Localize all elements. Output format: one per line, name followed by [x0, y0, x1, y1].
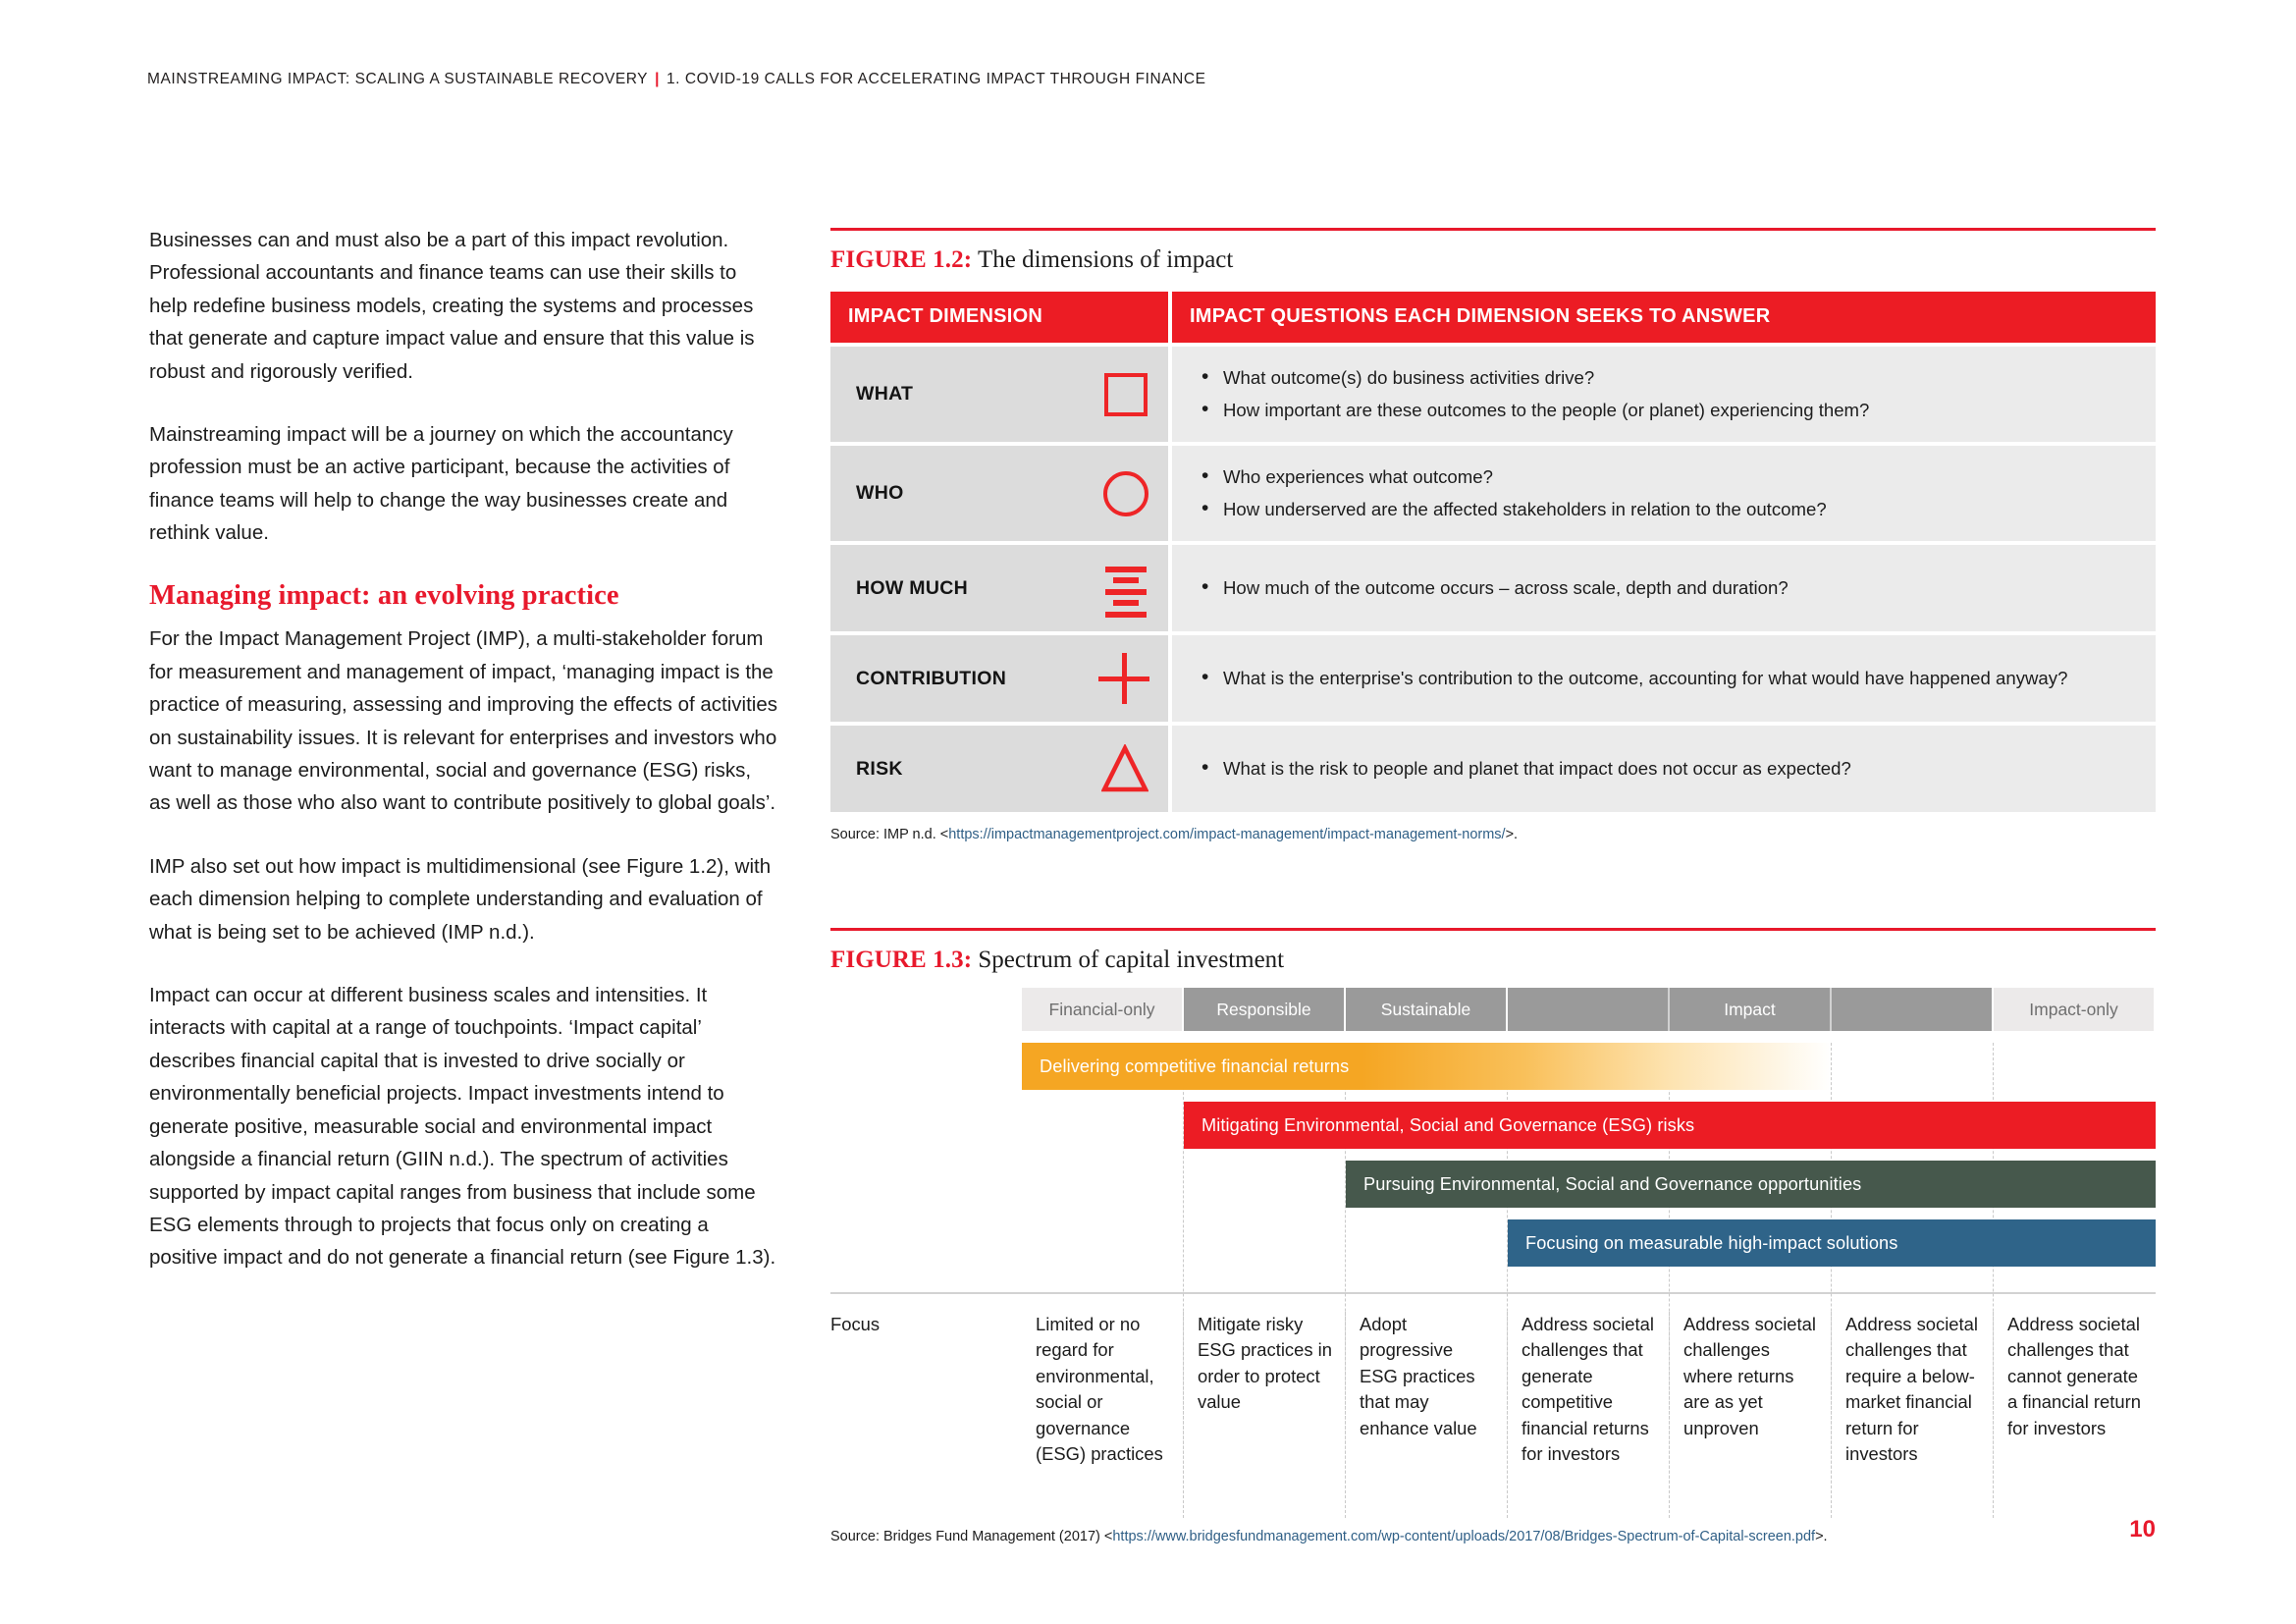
- table-row: CONTRIBUTION What is the enterprise's co…: [830, 635, 2156, 722]
- spectrum-header-blank-1: [1508, 988, 1670, 1031]
- left-text-column: Businesses can and must also be a part o…: [149, 224, 777, 1305]
- source-prefix: Source: Bridges Fund Management (2017) <: [830, 1529, 1112, 1544]
- source-prefix: Source: IMP n.d. <: [830, 827, 948, 842]
- question-item: What outcome(s) do business activities d…: [1198, 363, 2132, 393]
- spectrum-bar-row: Pursuing Environmental, Social and Gover…: [830, 1161, 2156, 1208]
- plus-icon: [1094, 648, 1154, 709]
- dimension-cell-contribution: CONTRIBUTION: [830, 635, 1172, 722]
- dimension-label: WHAT: [856, 383, 913, 406]
- question-item: Who experiences what outcome?: [1198, 462, 2132, 492]
- section-heading: Managing impact: an evolving practice: [149, 580, 777, 613]
- focus-row: Focus Limited or no regard for environme…: [830, 1312, 2156, 1518]
- questions-cell-who: Who experiences what outcome? How unders…: [1172, 446, 2156, 541]
- focus-cell-responsible: Mitigate risky ESG practices in order to…: [1184, 1312, 1346, 1518]
- source-url[interactable]: https://impactmanagementproject.com/impa…: [948, 827, 1505, 842]
- table-row: WHO Who experiences what outcome? How un…: [830, 446, 2156, 541]
- spectrum-bar-label: Focusing on measurable high-impact solut…: [1508, 1233, 1897, 1254]
- dimension-cell-how-much: HOW MUCH: [830, 545, 1172, 631]
- paragraph-2: Mainstreaming impact will be a journey o…: [149, 418, 777, 550]
- spectrum-bar-label: Delivering competitive financial returns: [1022, 1056, 1349, 1077]
- question-item: How underserved are the affected stakeho…: [1198, 495, 2132, 524]
- focus-cell-financial-only: Limited or no regard for environmental, …: [1022, 1312, 1184, 1518]
- figure-1-3-source: Source: Bridges Fund Management (2017) <…: [830, 1518, 2156, 1544]
- figure-1-3-number: FIGURE 1.3:: [830, 947, 972, 973]
- figure-1-2-title-text: The dimensions of impact: [978, 246, 1233, 273]
- column-header-questions: IMPACT QUESTIONS EACH DIMENSION SEEKS TO…: [1172, 292, 2156, 343]
- page-number: 10: [2129, 1516, 2156, 1543]
- dimension-label: CONTRIBUTION: [856, 668, 1006, 690]
- bars-icon: [1094, 558, 1154, 619]
- spectrum-bars-region: Delivering competitive financial returns…: [830, 1043, 2156, 1518]
- impact-dimensions-table: IMPACT DIMENSION IMPACT QUESTIONS EACH D…: [830, 288, 2156, 816]
- figure-1-3-title-text: Spectrum of capital investment: [978, 947, 1284, 973]
- spectrum-header-financial-only: Financial-only: [1022, 988, 1184, 1031]
- question-item: What is the risk to people and planet th…: [1198, 754, 2132, 784]
- spectrum-header-row: Financial-only Responsible Sustainable I…: [830, 988, 2156, 1031]
- focus-cell-impact-2: Address societal challenges where return…: [1670, 1312, 1832, 1518]
- capital-spectrum-chart: Financial-only Responsible Sustainable I…: [830, 988, 2156, 1518]
- questions-cell-contribution: What is the enterprise's contribution to…: [1172, 635, 2156, 722]
- focus-cell-impact-only: Address societal challenges that cannot …: [1994, 1312, 2156, 1518]
- running-header: MAINSTREAMING IMPACT: SCALING A SUSTAINA…: [147, 71, 1206, 88]
- question-item: How important are these outcomes to the …: [1198, 396, 2132, 425]
- source-suffix: >.: [1506, 827, 1519, 842]
- spectrum-bar-high-impact-solutions: Focusing on measurable high-impact solut…: [1508, 1219, 2156, 1267]
- spectrum-bar-esg-risks: Mitigating Environmental, Social and Gov…: [1184, 1102, 2156, 1149]
- table-row: WHAT What outcome(s) do business activit…: [830, 347, 2156, 442]
- spectrum-header-impact-only: Impact-only: [1994, 988, 2156, 1031]
- spectrum-header-impact: Impact: [1670, 988, 1832, 1031]
- dimension-cell-who: WHO: [830, 446, 1172, 541]
- dimension-label: RISK: [856, 758, 903, 781]
- running-header-right: 1. COVID-19 CALLS FOR ACCELERATING IMPAC…: [667, 71, 1206, 87]
- figure-1-2-source: Source: IMP n.d. <https://impactmanageme…: [830, 816, 2156, 842]
- spectrum-header-responsible: Responsible: [1184, 988, 1346, 1031]
- figure-1-3-title: FIGURE 1.3: Spectrum of capital investme…: [830, 931, 2156, 988]
- document-page: MAINSTREAMING IMPACT: SCALING A SUSTAINA…: [0, 0, 2296, 1624]
- dimension-cell-risk: RISK: [830, 726, 1172, 812]
- running-header-left: MAINSTREAMING IMPACT: SCALING A SUSTAINA…: [147, 71, 648, 87]
- spectrum-bar-row: Mitigating Environmental, Social and Gov…: [830, 1102, 2156, 1149]
- questions-cell-how-much: How much of the outcome occurs – across …: [1172, 545, 2156, 631]
- question-item: What is the enterprise's contribution to…: [1198, 664, 2132, 693]
- spectrum-bar-label: Pursuing Environmental, Social and Gover…: [1346, 1174, 1861, 1195]
- paragraph-3: For the Impact Management Project (IMP),…: [149, 623, 777, 819]
- spectrum-bar-financial-returns: Delivering competitive financial returns: [1022, 1043, 1832, 1090]
- square-icon: [1094, 364, 1154, 425]
- running-header-separator: |: [648, 71, 667, 87]
- spectrum-header-blank-2: [1832, 988, 1994, 1031]
- spectrum-bar-row: Focusing on measurable high-impact solut…: [830, 1219, 2156, 1267]
- figure-1-2-number: FIGURE 1.2:: [830, 246, 972, 273]
- figure-1-3: FIGURE 1.3: Spectrum of capital investme…: [830, 928, 2156, 1544]
- circle-icon: [1094, 463, 1154, 524]
- table-row: HOW MUCH How much of the outcome occurs …: [830, 545, 2156, 631]
- source-suffix: >.: [1815, 1529, 1828, 1544]
- focus-cell-sustainable: Adopt progressive ESG practices that may…: [1346, 1312, 1508, 1518]
- source-url[interactable]: https://www.bridgesfundmanagement.com/wp…: [1112, 1529, 1815, 1544]
- focus-row-label: Focus: [830, 1312, 1022, 1518]
- spectrum-header-sustainable: Sustainable: [1346, 988, 1508, 1031]
- triangle-icon: [1094, 738, 1154, 799]
- paragraph-1: Businesses can and must also be a part o…: [149, 224, 777, 388]
- question-item: How much of the outcome occurs – across …: [1198, 573, 2132, 603]
- dimension-label: WHO: [856, 482, 904, 505]
- table-header-row: IMPACT DIMENSION IMPACT QUESTIONS EACH D…: [830, 292, 2156, 343]
- focus-cell-impact-1: Address societal challenges that generat…: [1508, 1312, 1670, 1518]
- focus-divider: [830, 1292, 2156, 1294]
- dimension-cell-what: WHAT: [830, 347, 1172, 442]
- paragraph-4: IMP also set out how impact is multidime…: [149, 850, 777, 948]
- spectrum-row-label-spacer: [830, 988, 1022, 1031]
- table-row: RISK What is the risk to people and plan…: [830, 726, 2156, 812]
- spectrum-bar-label: Mitigating Environmental, Social and Gov…: [1184, 1115, 1694, 1136]
- questions-cell-what: What outcome(s) do business activities d…: [1172, 347, 2156, 442]
- figure-1-2-title: FIGURE 1.2: The dimensions of impact: [830, 231, 2156, 288]
- figure-1-2: FIGURE 1.2: The dimensions of impact IMP…: [830, 228, 2156, 842]
- focus-cell-impact-3: Address societal challenges that require…: [1832, 1312, 1994, 1518]
- paragraph-5: Impact can occur at different business s…: [149, 979, 777, 1274]
- spectrum-bar-row: Delivering competitive financial returns: [830, 1043, 2156, 1090]
- dimension-label: HOW MUCH: [856, 577, 968, 600]
- spectrum-bar-esg-opportunities: Pursuing Environmental, Social and Gover…: [1346, 1161, 2156, 1208]
- column-header-dimension: IMPACT DIMENSION: [830, 292, 1172, 343]
- questions-cell-risk: What is the risk to people and planet th…: [1172, 726, 2156, 812]
